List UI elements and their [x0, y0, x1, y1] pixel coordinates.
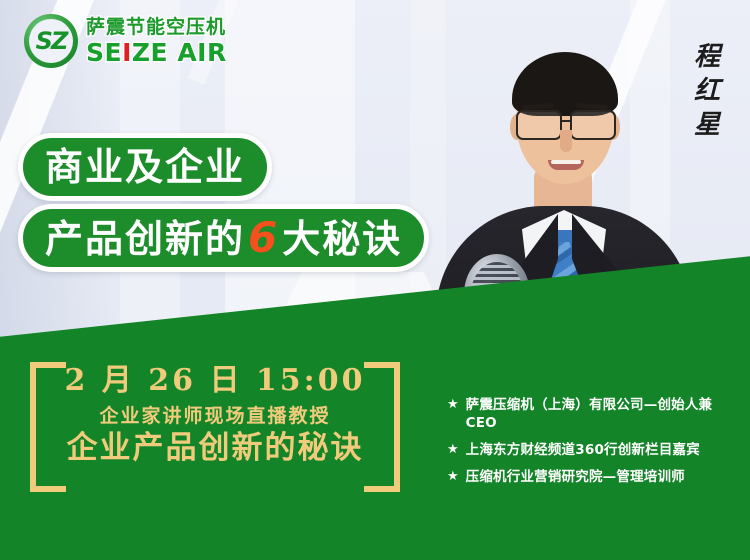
brand-logo: SZ 萨震节能空压机 SEIZE AIR	[24, 14, 227, 68]
glasses-lens-left	[516, 110, 562, 140]
brand-en-part-a: SE	[86, 38, 122, 67]
star-icon: ★	[447, 468, 459, 486]
logo-monogram: SZ	[36, 27, 67, 55]
glasses-lens-right	[570, 110, 616, 140]
event-info-lines: 2 月 26 日 15:00 企业家讲师现场直播教授 企业产品创新的秘诀	[64, 364, 366, 467]
headline-pill-2: 产品创新的6大秘诀	[18, 204, 429, 272]
event-topic: 企业产品创新的秘诀	[64, 431, 366, 467]
speaker-name-char-1: 程	[694, 44, 720, 70]
bracket-right-decoration	[364, 362, 400, 492]
headline-line-2-suffix: 大秘诀	[282, 220, 402, 258]
headline-line-1: 商业及企业	[45, 148, 245, 186]
brand-logo-text: 萨震节能空压机 SEIZE AIR	[86, 18, 227, 65]
headline-number-badge: 6	[245, 217, 282, 259]
list-item: ★ 萨震压缩机（上海）有限公司—创始人兼CEO	[447, 396, 737, 432]
star-icon: ★	[447, 396, 459, 414]
speaker-name-char-3: 星	[694, 112, 720, 138]
star-icon: ★	[447, 441, 459, 459]
list-item: ★ 上海东方财经频道360行创新栏目嘉宾	[447, 441, 737, 459]
headline-line-2: 产品创新的6大秘诀	[45, 217, 402, 259]
headline-line-2-prefix: 产品创新的	[45, 220, 245, 258]
event-date-time: 2 月 26 日 15:00	[64, 364, 366, 399]
speaker-name-char-2: 红	[694, 78, 720, 104]
speaker-teeth	[551, 160, 581, 164]
list-item: ★ 压缩机行业营销研究院—管理培训师	[447, 468, 737, 486]
brand-name-en: SEIZE AIR	[86, 40, 227, 65]
speaker-nose	[560, 130, 572, 152]
credential-text-2: 上海东方财经频道360行创新栏目嘉宾	[466, 441, 700, 459]
promotional-banner: SZ 萨震节能空压机 SEIZE AIR 程 红 星 商业及企业 产品创新的6大…	[0, 0, 750, 560]
headline-pill-1: 商业及企业	[18, 133, 272, 201]
brand-en-part-b: ZE AIR	[132, 38, 227, 67]
bracket-left-decoration	[30, 362, 66, 492]
event-subtitle: 企业家讲师现场直播教授	[64, 405, 366, 428]
brand-en-part-i: I	[122, 38, 132, 67]
brand-name-cn: 萨震节能空压机	[86, 18, 227, 37]
speaker-name-calligraphy: 程 红 星	[688, 44, 726, 138]
event-info-group: 2 月 26 日 15:00 企业家讲师现场直播教授 企业产品创新的秘诀	[30, 362, 400, 492]
speaker-credentials-list: ★ 萨震压缩机（上海）有限公司—创始人兼CEO ★ 上海东方财经频道360行创新…	[447, 396, 737, 495]
credential-text-1: 萨震压缩机（上海）有限公司—创始人兼CEO	[466, 396, 737, 432]
credential-text-3: 压缩机行业营销研究院—管理培训师	[466, 468, 685, 486]
logo-mark-icon: SZ	[24, 14, 78, 68]
